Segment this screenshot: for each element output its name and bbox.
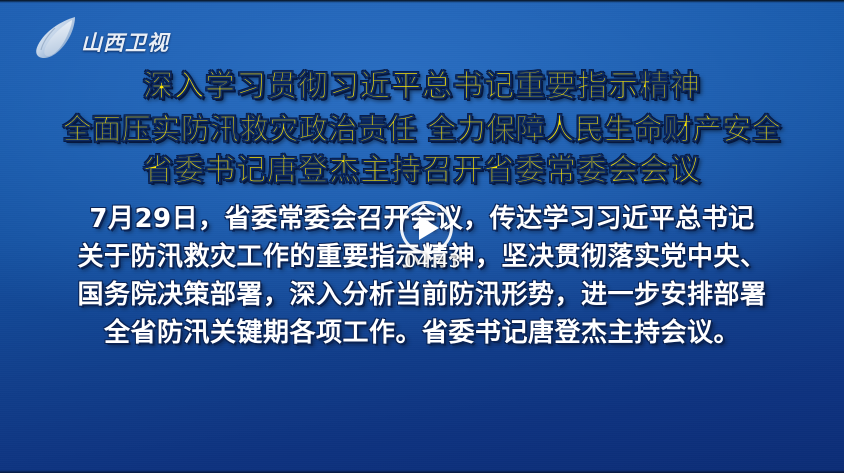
headline-block: 深入学习贯彻习近平总书记重要指示精神 全面压实防汛救灾政治责任 全力保障人民生命…	[0, 66, 844, 192]
headline-line-2: 全面压实防汛救灾政治责任 全力保障人民生命财产安全	[0, 108, 844, 150]
play-triangle-icon	[419, 216, 439, 240]
body-line-4: 全省防汛关键期各项工作。省委书记唐登杰主持会议。	[0, 314, 844, 352]
play-button[interactable]	[400, 201, 453, 254]
channel-logo: 山西卫视	[31, 14, 183, 60]
channel-wordmark: 山西卫视	[81, 33, 169, 54]
body-line-3: 国务院决策部署，深入分析当前防汛形势，进一步安排部署	[0, 276, 844, 314]
video-player-frame[interactable]: 山西卫视 深入学习贯彻习近平总书记重要指示精神 全面压实防汛救灾政治责任 全力保…	[0, 0, 844, 473]
headline-line-1: 深入学习贯彻习近平总书记重要指示精神	[0, 66, 844, 108]
top-letterbox-edge	[0, 0, 844, 3]
headline-line-3: 省委书记唐登杰主持召开省委常委会会议	[0, 150, 844, 192]
video-duration-label: 04:43	[404, 250, 450, 272]
